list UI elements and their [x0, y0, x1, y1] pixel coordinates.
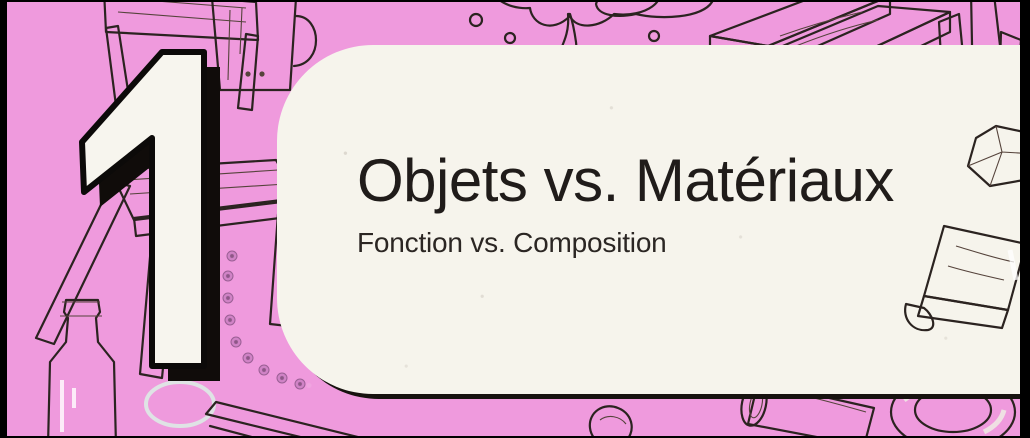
small-pebble-illustration [580, 402, 640, 438]
letterbox-left [0, 0, 7, 438]
page-title: Objets vs. Matériaux [357, 150, 957, 211]
letterbox-right [1020, 0, 1030, 438]
title-block: Objets vs. Matériaux Fonction vs. Compos… [357, 150, 957, 259]
page-subtitle: Fonction vs. Composition [357, 227, 957, 259]
letterbox-top [0, 0, 1030, 2]
glass-bottle-illustration [28, 296, 138, 438]
title-slide: Objets vs. Matériaux Fonction vs. Compos… [0, 0, 1030, 438]
